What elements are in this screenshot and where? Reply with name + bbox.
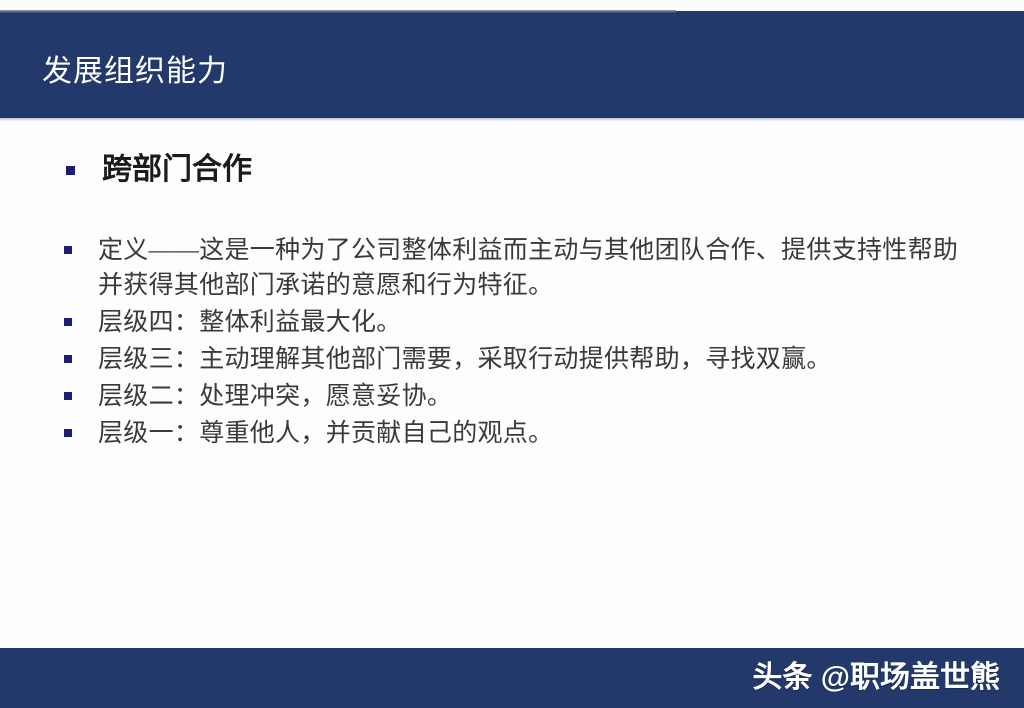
list-item-label: 层级三：主动理解其他部门需要，采取行动提供帮助，寻找双赢。 bbox=[98, 342, 832, 377]
watermark-brand: 头条 bbox=[752, 661, 812, 694]
square-bullet-icon bbox=[64, 429, 72, 437]
list-item: 层级一：尊重他人，并贡献自己的观点。 bbox=[64, 416, 994, 451]
square-bullet-icon bbox=[64, 318, 72, 326]
list-item: 层级二：处理冲突，愿意妥协。 bbox=[64, 379, 994, 414]
list-item: 层级三：主动理解其他部门需要，采取行动提供帮助，寻找双赢。 bbox=[64, 342, 994, 377]
list-item-label: 层级二：处理冲突，愿意妥协。 bbox=[98, 379, 452, 414]
bullet-list: 定义——这是一种为了公司整体利益而主动与其他团队合作、提供支持性帮助并获得其他部… bbox=[64, 233, 994, 453]
watermark-handle: @职场盖世熊 bbox=[821, 661, 1000, 694]
list-item-label: 层级四：整体利益最大化。 bbox=[98, 305, 402, 340]
section-heading-row: 跨部门合作 bbox=[66, 151, 252, 189]
square-bullet-icon bbox=[64, 355, 72, 363]
square-bullet-icon bbox=[64, 392, 72, 400]
list-item-label: 定义——这是一种为了公司整体利益而主动与其他团队合作、提供支持性帮助并获得其他部… bbox=[98, 233, 978, 303]
presentation-slide: 发展组织能力 跨部门合作 定义——这是一种为了公司整体利益而主动与其他团队合作、… bbox=[0, 0, 1024, 708]
list-item: 层级四：整体利益最大化。 bbox=[64, 305, 994, 340]
slide-header-band-right-extension bbox=[676, 11, 1024, 118]
watermark-text: 头条 @职场盖世熊 bbox=[752, 661, 1000, 695]
square-bullet-icon bbox=[64, 246, 72, 254]
slide-body: 跨部门合作 定义——这是一种为了公司整体利益而主动与其他团队合作、提供支持性帮助… bbox=[0, 121, 1024, 648]
footer-watermark-band: 头条 @职场盖世熊 bbox=[0, 648, 1024, 708]
list-item: 定义——这是一种为了公司整体利益而主动与其他团队合作、提供支持性帮助并获得其他部… bbox=[64, 233, 994, 303]
square-bullet-icon bbox=[66, 166, 75, 175]
slide-title: 发展组织能力 bbox=[42, 52, 228, 92]
list-item-label: 层级一：尊重他人，并贡献自己的观点。 bbox=[98, 416, 553, 451]
section-heading-label: 跨部门合作 bbox=[102, 151, 252, 189]
